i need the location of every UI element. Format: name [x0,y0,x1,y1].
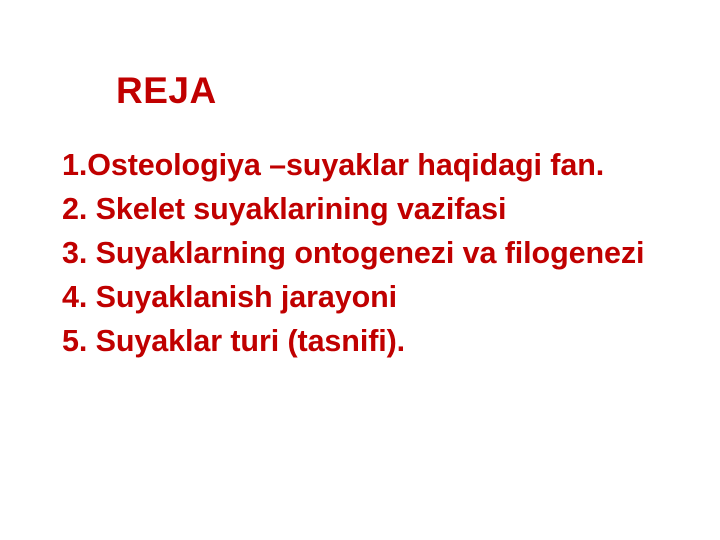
list-item: 2. Skelet suyaklarining vazifasi [62,187,702,231]
slide-body-list: 1.Osteologiya –suyaklar haqidagi fan. 2.… [62,143,702,363]
list-item: 1.Osteologiya –suyaklar haqidagi fan. [62,143,702,187]
list-item: 4. Suyaklanish jarayoni [62,275,702,319]
list-item: 3. Suyaklarning ontogenezi va filogenezi [62,231,702,275]
presentation-slide: REJA 1.Osteologiya –suyaklar haqidagi fa… [0,0,720,540]
slide-title: REJA [116,72,217,111]
list-item: 5. Suyaklar turi (tasnifi). [62,319,702,363]
